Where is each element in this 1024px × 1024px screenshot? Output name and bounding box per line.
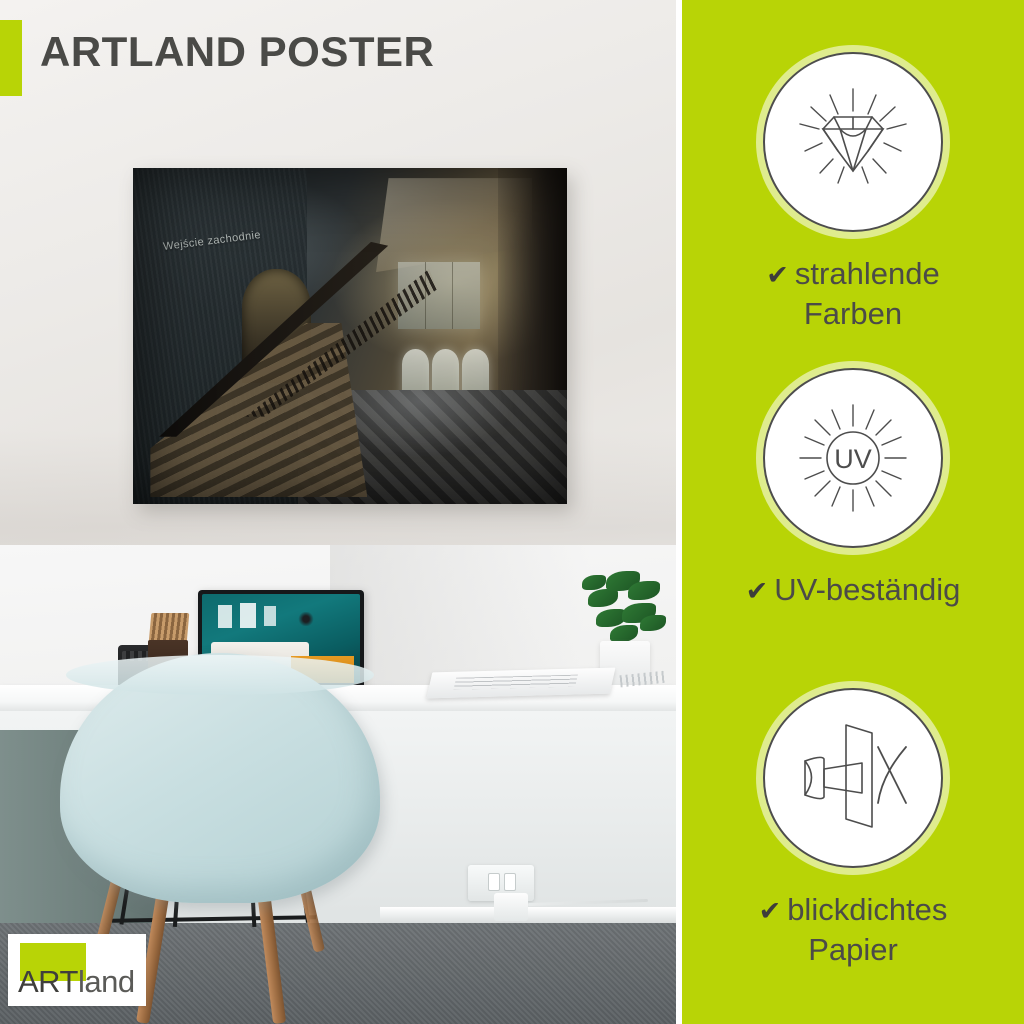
artland-logo: ARTland	[8, 934, 146, 1006]
opaque-paper-light-block-icon	[763, 688, 943, 868]
check-icon: ✔	[766, 260, 789, 290]
screen-pendant-lamp	[298, 612, 314, 626]
feature-opaque-paper: ✔blickdichtes Papier	[682, 688, 1024, 969]
check-icon: ✔	[746, 576, 769, 606]
title-accent-bar	[0, 20, 22, 96]
logo-land-text: land	[78, 964, 135, 999]
diamond-sparkle-icon	[763, 52, 943, 232]
poster-vignette	[133, 168, 567, 504]
pencils	[149, 613, 190, 643]
feature-3-label: ✔blickdichtes Papier	[693, 890, 1013, 969]
feature-1-line1: strahlende	[795, 256, 940, 291]
logo-wordmark: ARTland	[18, 966, 135, 997]
product-marketing-banner: Wejście zachodnie	[0, 0, 1024, 1024]
features-panel: ✔strahlende Farben	[682, 0, 1024, 1024]
poster-image: Wejście zachodnie	[133, 168, 567, 504]
screen-wall-art-3	[264, 606, 277, 626]
uv-sun-icon: UV	[763, 368, 943, 548]
svg-text:UV: UV	[834, 444, 872, 474]
feature-1-label: ✔strahlende Farben	[693, 254, 1013, 333]
feature-3-line2: Papier	[808, 932, 898, 967]
feature-2-label: ✔UV-beständig	[693, 570, 1013, 610]
poster-artwork: Wejście zachodnie	[133, 168, 567, 504]
plant-foliage	[578, 563, 674, 649]
feature-radiant-colors: ✔strahlende Farben	[682, 52, 1024, 333]
newspaper	[427, 668, 616, 699]
screen-wall-art-2	[240, 603, 256, 628]
feature-1-line2: Farben	[804, 296, 902, 331]
feature-2-line1: UV-beständig	[774, 572, 960, 607]
skirting-board	[380, 907, 676, 923]
chair-rim	[66, 655, 374, 695]
feature-uv-resistant: UV ✔UV-beständig	[682, 368, 1024, 610]
check-icon: ✔	[759, 896, 782, 926]
power-plug	[494, 893, 528, 921]
room-photo-pane: Wejście zachodnie	[0, 0, 676, 1024]
feature-3-line1: blickdichtes	[787, 892, 947, 927]
screen-wall-art-1	[218, 605, 232, 628]
page-title: ARTLAND POSTER	[40, 28, 434, 76]
logo-art-text: ART	[18, 964, 78, 999]
